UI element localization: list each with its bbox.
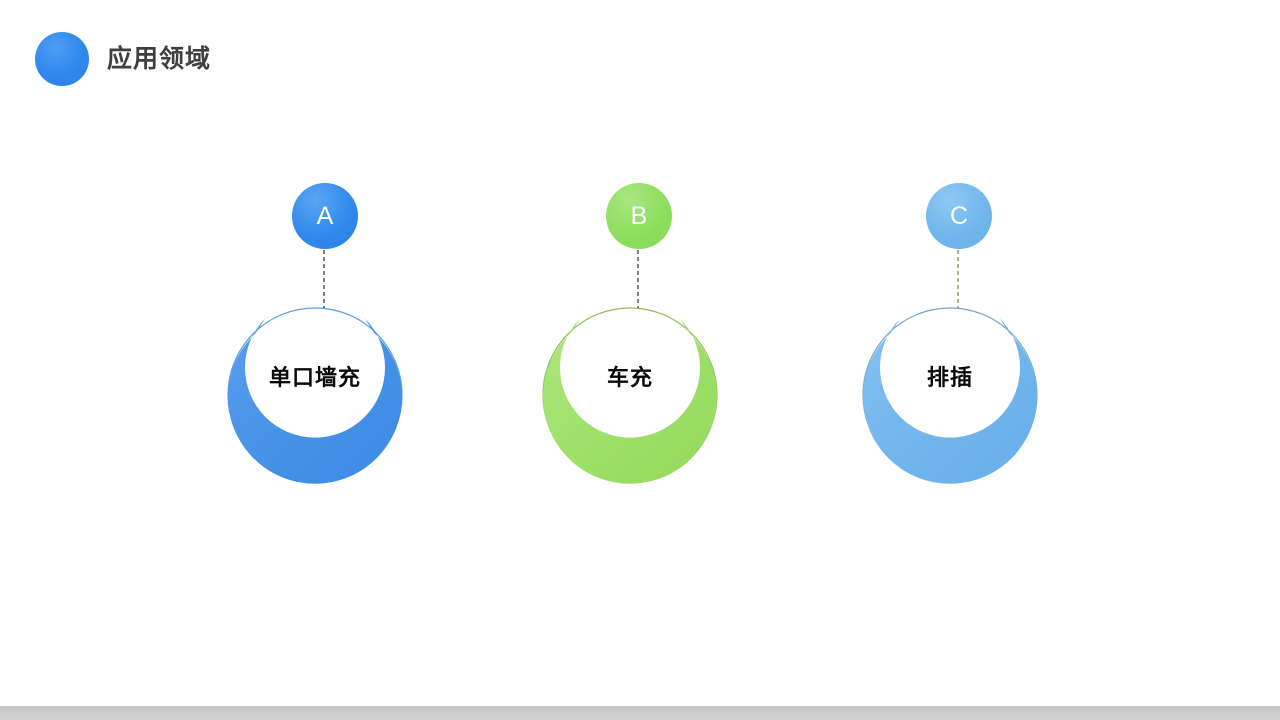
ring-item-c[interactable]: C 排插 [800,175,1100,495]
ring-label-a: 单口墙充 [165,365,465,391]
ring-arc-a [228,318,402,483]
ring-arc-b [543,318,717,483]
ring-label-b: 车充 [480,365,780,391]
badge-c-letter: C [950,204,968,229]
ring-item-a[interactable]: A 单口墙充 [165,175,465,495]
badge-c[interactable]: C [926,183,992,249]
ring-arc-c [863,318,1037,483]
badge-a-letter: A [317,204,334,229]
badge-b[interactable]: B [606,183,672,249]
badge-a[interactable]: A [292,183,358,249]
bottom-bar [0,706,1280,720]
ring-diagram-stage: A 单口墙充 B 车充 [0,0,1280,720]
badge-b-letter: B [631,204,648,229]
ring-item-b[interactable]: B 车充 [480,175,780,495]
ring-label-c: 排插 [800,365,1100,391]
